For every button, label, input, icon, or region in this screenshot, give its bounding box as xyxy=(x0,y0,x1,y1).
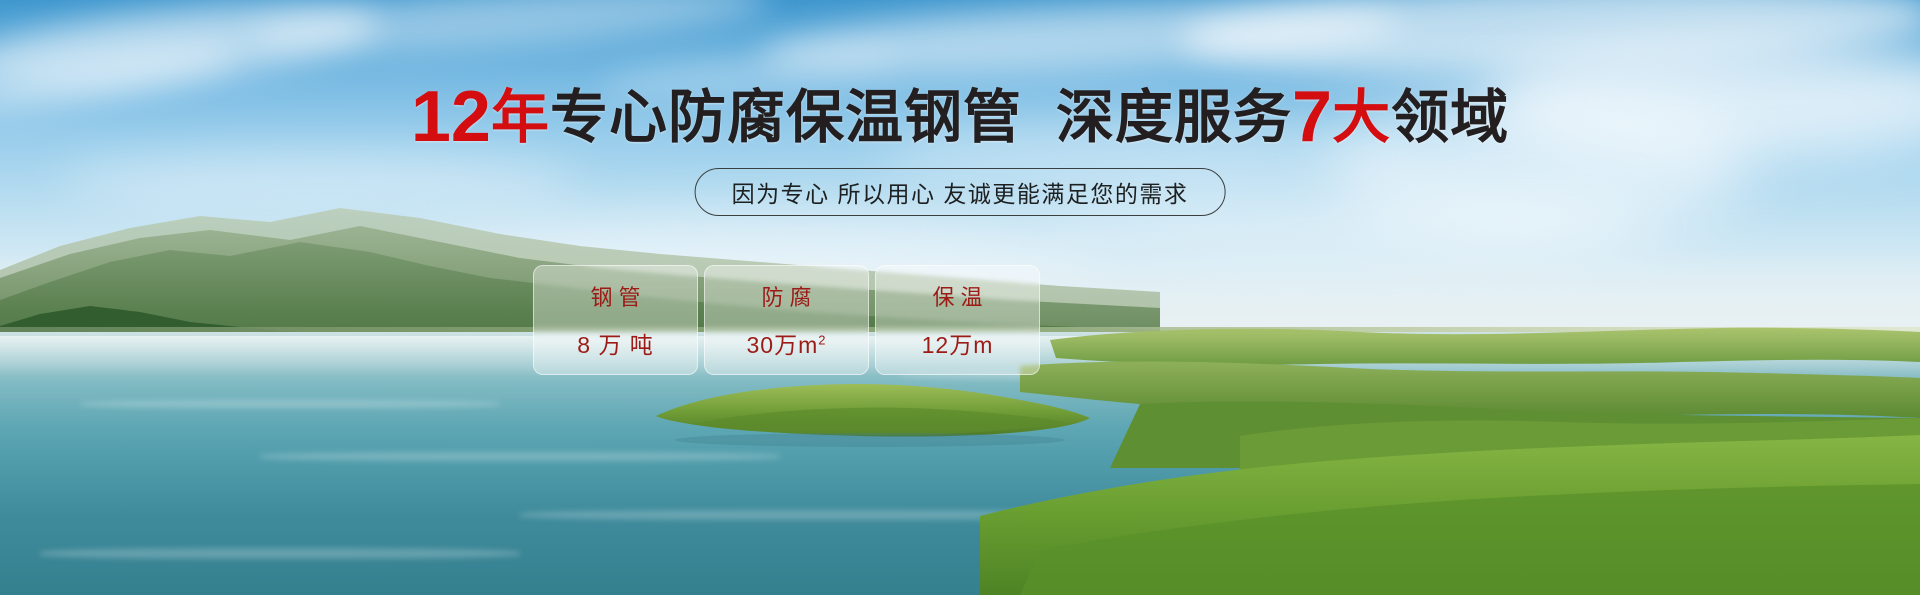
subtitle-pill: 因为专心 所以用心 友诚更能满足您的需求 xyxy=(695,168,1226,216)
stats-card-group: 钢管 8 万 吨 防腐 30万m2 保温 12万m xyxy=(533,265,1040,375)
headline-years-number: 12 xyxy=(411,77,491,157)
stat-card-label: 保温 xyxy=(926,280,988,312)
headline-fields-number: 7 xyxy=(1292,77,1332,157)
headline-years-unit: 年 xyxy=(491,85,550,150)
stat-card-value-superscript: 2 xyxy=(818,332,826,347)
grass-foreground xyxy=(980,430,1920,595)
stat-card-value: 8 万 吨 xyxy=(577,326,654,360)
headline-fields-unit: 大 xyxy=(1332,85,1391,150)
headline-fields-text: 领域 xyxy=(1391,85,1509,150)
stat-card-anticorrosion[interactable]: 防腐 30万m2 xyxy=(704,265,869,375)
stat-card-value-main: 8 万 吨 xyxy=(577,332,654,358)
stat-card-steel-pipe[interactable]: 钢管 8 万 吨 xyxy=(533,265,698,375)
water-streak xyxy=(260,452,780,461)
water-streak xyxy=(80,400,500,408)
stat-card-value-main: 12万m xyxy=(922,332,994,358)
hero-banner: 12年专心防腐保温钢管深度服务7大领域 因为专心 所以用心 友诚更能满足您的需求… xyxy=(0,0,1920,595)
stat-card-insulation[interactable]: 保温 12万m xyxy=(875,265,1040,375)
banner-headline: 12年专心防腐保温钢管深度服务7大领域 xyxy=(0,86,1920,149)
stat-card-label: 钢管 xyxy=(584,280,646,312)
headline-service-text: 深度服务 xyxy=(1056,85,1292,150)
stat-card-value: 30万m2 xyxy=(747,326,827,360)
stat-card-value: 12万m xyxy=(922,326,994,360)
stat-card-value-main: 30万m xyxy=(747,332,819,358)
subtitle-text: 因为专心 所以用心 友诚更能满足您的需求 xyxy=(732,175,1189,209)
headline-main-text: 专心防腐保温钢管 xyxy=(550,85,1022,150)
stat-card-label: 防腐 xyxy=(755,280,817,312)
grassy-island xyxy=(620,372,1120,452)
water-streak xyxy=(40,548,520,559)
